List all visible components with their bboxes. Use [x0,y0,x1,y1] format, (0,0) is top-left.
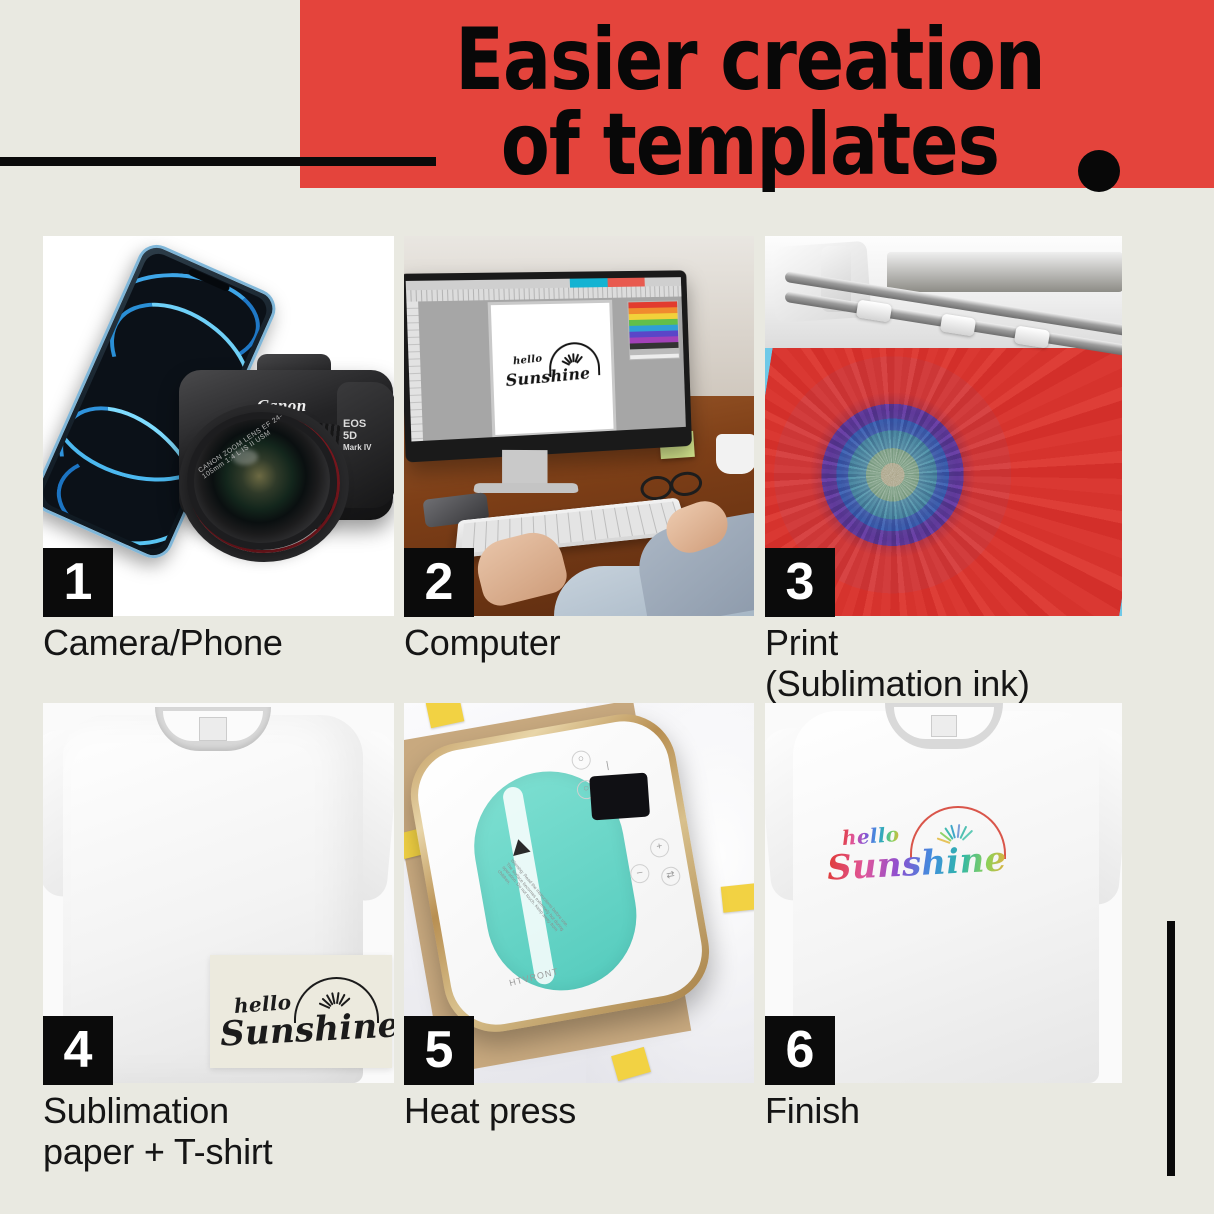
sublimation-paper-graphic: hello Sunshine [210,955,392,1068]
step-3-number-badge: 3 [765,548,835,617]
heat-press-graphic: ○ ○ | + – ⇄ Warning: Read the instructio… [404,706,717,1040]
decrease-button-icon[interactable]: – [629,863,651,885]
mode-button-icon[interactable]: ⇄ [660,865,682,887]
monitor-graphic: hello Sunshine [404,270,692,462]
shirt-artwork-line-2: Sunshine [826,839,1007,888]
warning-triangle-icon [510,837,531,856]
step-4-number-badge: 4 [43,1016,113,1085]
paper-artwork-line-2: Sunshine [219,1005,394,1054]
step-4-caption: Sublimation paper + T-shirt [43,1090,272,1172]
step-5-number-badge: 5 [404,1016,474,1085]
step-5-caption: Heat press [404,1090,576,1131]
infographic-canvas: Easier creation of templates Canon EOS 5… [0,0,1214,1214]
screen-artwork-line-1: hello [512,353,542,367]
step-1-caption: Camera/Phone [43,622,283,663]
dslr-camera-graphic: Canon EOS 5D Mark IV CANON ZOOM LENS EF … [161,348,394,538]
indicator-icon: | [598,757,618,777]
step-6-number-badge: 6 [765,1016,835,1085]
bottom-right-vertical-rule [1167,921,1175,1176]
step-3-caption: Print (Sublimation ink) [765,622,1030,704]
color-palette-graphic [627,300,680,360]
step-1-number-badge: 1 [43,548,113,617]
page-title: Easier creation of templates [336,18,1164,188]
title-period-dot [1078,150,1120,192]
step-6-caption: Finish [765,1090,860,1131]
heat-press-display [589,773,650,821]
increase-button-icon[interactable]: + [649,837,671,859]
camera-model-label: EOS 5D Mark IV [343,418,371,454]
tape-strip-right [721,883,754,912]
power-button-icon[interactable]: ○ [570,749,592,771]
step-2-number-badge: 2 [404,548,474,617]
step-2-caption: Computer [404,622,560,663]
screen-artwork-line-2: Sunshine [505,363,591,390]
